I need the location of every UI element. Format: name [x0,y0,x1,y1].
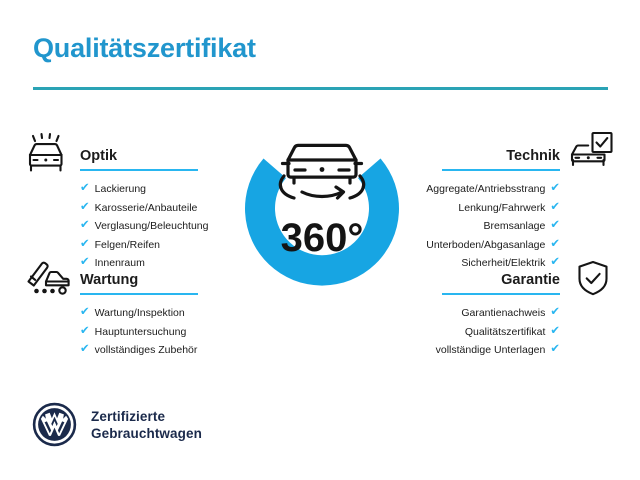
list-item-label: Wartung/Inspektion [95,305,185,321]
check-icon: ✔ [80,326,90,338]
car-rotate-icon [280,145,363,198]
footer-text: Zertifizierte Gebrauchtwagen [91,408,202,442]
list-item-label: Karosserie/Anbauteile [95,200,198,216]
wrench-car-icon [24,256,72,298]
list-item-label: Garantienachweis [461,305,545,321]
list-item-label: Lenkung/Fahrwerk [458,200,545,216]
check-icon: ✔ [80,344,90,356]
list-item: vollständige Unterlagen ✔ [442,342,560,358]
footer-line-2: Gebrauchtwagen [91,425,202,442]
list-item-label: Felgen/Reifen [95,237,160,253]
checklist: ✔ Wartung/Inspektion ✔ Hauptuntersuchung… [80,305,198,358]
check-icon: ✔ [550,220,560,232]
title-divider [33,87,608,90]
section-header: Optik [80,146,198,174]
footer-logo-block: Zertifizierte Gebrauchtwagen [32,402,202,447]
section-wartung: Wartung ✔ Wartung/Inspektion ✔ Hauptunte… [80,270,198,361]
list-item: ✔ Verglasung/Beleuchtung [80,218,198,234]
list-item: ✔ Lackierung [80,181,198,197]
list-item: ✔ Felgen/Reifen [80,237,198,253]
check-icon: ✔ [80,183,90,195]
section-title: Optik [80,146,198,166]
list-item: Lenkung/Fahrwerk ✔ [442,200,560,216]
check-icon: ✔ [550,202,560,214]
list-item: ✔ Karosserie/Anbauteile [80,200,198,216]
car-checkbox-icon [568,130,616,172]
list-item: ✔ Innenraum [80,255,198,271]
gebrauchtwagen-check-badge: 360° Gebrauchtwagen-Check [222,118,422,323]
list-item: Bremsanlage ✔ [442,218,560,234]
list-item-label: Unterboden/Abgasanlage [426,237,545,253]
section-optik: Optik ✔ Lackierung ✔ Karosserie/Anbautei… [80,146,198,274]
section-underline [442,169,560,171]
check-icon: ✔ [80,239,90,251]
list-item-label: Hauptuntersuchung [95,324,187,340]
list-item-label: Qualitätszertifikat [465,324,546,340]
section-header: Wartung [80,270,198,298]
shield-check-icon [570,258,618,300]
vw-logo [32,402,77,447]
check-icon: ✔ [550,326,560,338]
section-underline [80,169,198,171]
check-icon: ✔ [550,239,560,251]
list-item: ✔ Hauptuntersuchung [80,324,198,340]
section-underline [442,293,560,295]
checklist: Garantienachweis ✔ Qualitätszertifikat ✔… [442,305,560,358]
checklist: Aggregate/Antriebsstrang ✔ Lenkung/Fahrw… [442,181,560,271]
page-title: Qualitätszertifikat [33,34,256,64]
list-item: Aggregate/Antriebsstrang ✔ [442,181,560,197]
list-item-label: vollständiges Zubehör [95,342,198,358]
section-underline [80,293,198,295]
list-item: ✔ Wartung/Inspektion [80,305,198,321]
check-icon: ✔ [550,257,560,269]
section-title: Wartung [80,270,198,290]
checklist: ✔ Lackierung ✔ Karosserie/Anbauteile ✔ V… [80,181,198,271]
list-item: Unterboden/Abgasanlage ✔ [442,237,560,253]
section-title: Technik [442,146,560,166]
list-item: Qualitätszertifikat ✔ [442,324,560,340]
footer-line-1: Zertifizierte [91,408,202,425]
list-item-label: Innenraum [95,255,145,271]
section-title: Garantie [442,270,560,290]
list-item: Sicherheit/Elektrik ✔ [442,255,560,271]
check-icon: ✔ [80,220,90,232]
section-header: Technik [442,146,560,174]
check-icon: ✔ [80,202,90,214]
list-item-label: Aggregate/Antriebsstrang [426,181,545,197]
list-item-label: Lackierung [95,181,146,197]
list-item-label: Sicherheit/Elektrik [461,255,545,271]
certificate-page: Qualitätszertifikat Optik ✔ Lackierung [0,0,640,480]
list-item-label: Bremsanlage [483,218,545,234]
section-garantie: Garantie Garantienachweis ✔ Qualitätszer… [442,270,560,361]
check-icon: ✔ [550,344,560,356]
check-icon: ✔ [80,307,90,319]
list-item: ✔ vollständiges Zubehör [80,342,198,358]
check-icon: ✔ [80,257,90,269]
list-item-label: vollständige Unterlagen [436,342,546,358]
list-item-label: Verglasung/Beleuchtung [95,218,209,234]
section-header: Garantie [442,270,560,298]
car-shine-icon [24,132,72,174]
check-icon: ✔ [550,307,560,319]
check-icon: ✔ [550,183,560,195]
badge-center-label: 360° [281,216,364,260]
list-item: Garantienachweis ✔ [442,305,560,321]
section-technik: Technik Aggregate/Antriebsstrang ✔ Lenku… [442,146,560,274]
